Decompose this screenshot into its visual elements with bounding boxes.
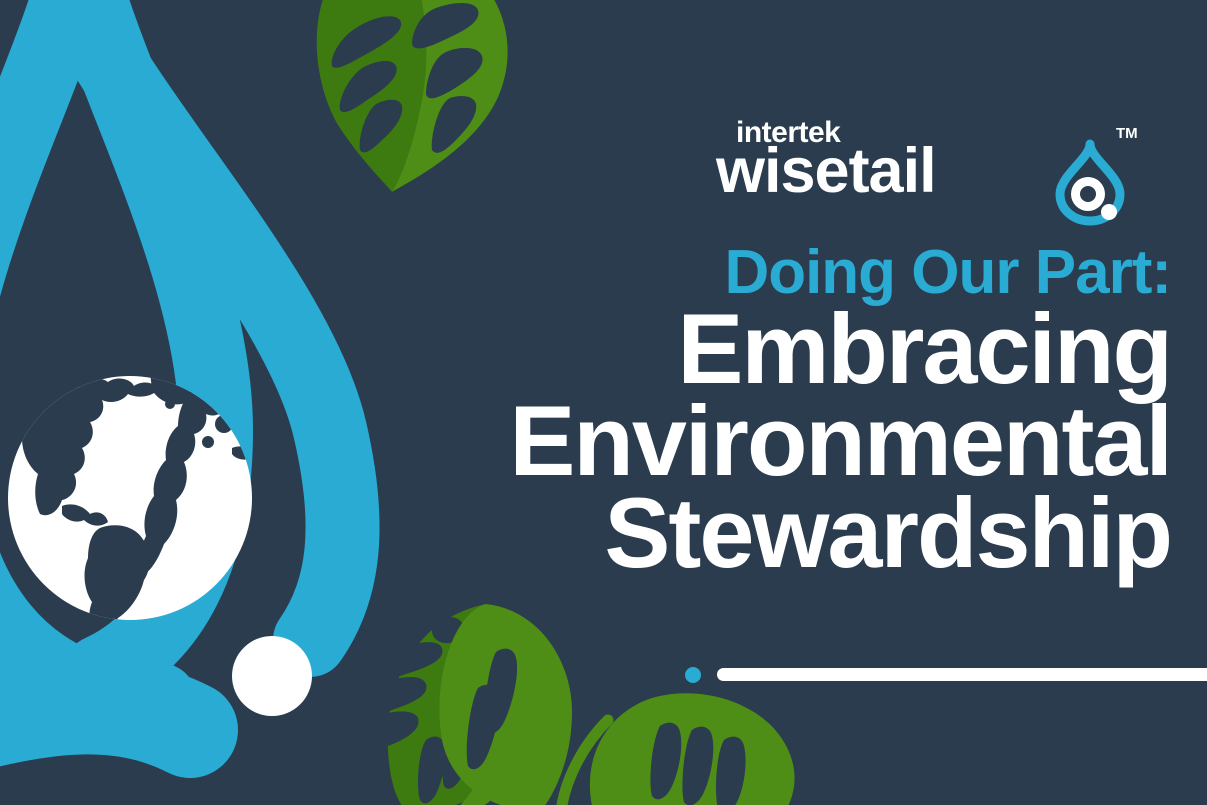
accent-rule-group [685,663,1207,685]
droplet-ring-inner [1080,186,1096,202]
headline-line-3: Stewardship [411,487,1171,579]
accent-rule [717,668,1207,681]
headline-block: Doing Our Part: Embracing Environmental … [411,243,1171,579]
leaf-stem-right [562,720,608,805]
accent-dot [685,667,701,683]
droplet-sweep [86,20,343,640]
monstera-leaf-bottom-center [439,604,572,805]
headline-line-2: Environmental [411,395,1171,487]
droplet-small-dot [1101,204,1117,220]
monstera-leaf-bottom-right [562,693,795,805]
white-dot [232,636,312,716]
droplet-left-stroke [0,0,160,700]
wisetail-logo-lockup[interactable]: intertek wisetail TM [716,118,1136,228]
teal-swoosh [0,706,190,742]
wisetail-droplet-mark [1050,138,1130,226]
poster-canvas: intertek wisetail TM Doing Our Part: Emb… [0,0,1207,805]
monstera-leaf-bottom-left [366,604,529,805]
globe-landmasses [12,369,256,635]
monstera-leaf-top [317,0,508,192]
trademark-symbol: TM [1116,126,1138,141]
leaf-stem-center [512,770,518,805]
headline-line-1: Embracing [411,303,1171,395]
droplet-right-stroke [79,0,216,672]
wisetail-wordmark: wisetail [716,140,936,203]
globe-icon [8,376,252,620]
